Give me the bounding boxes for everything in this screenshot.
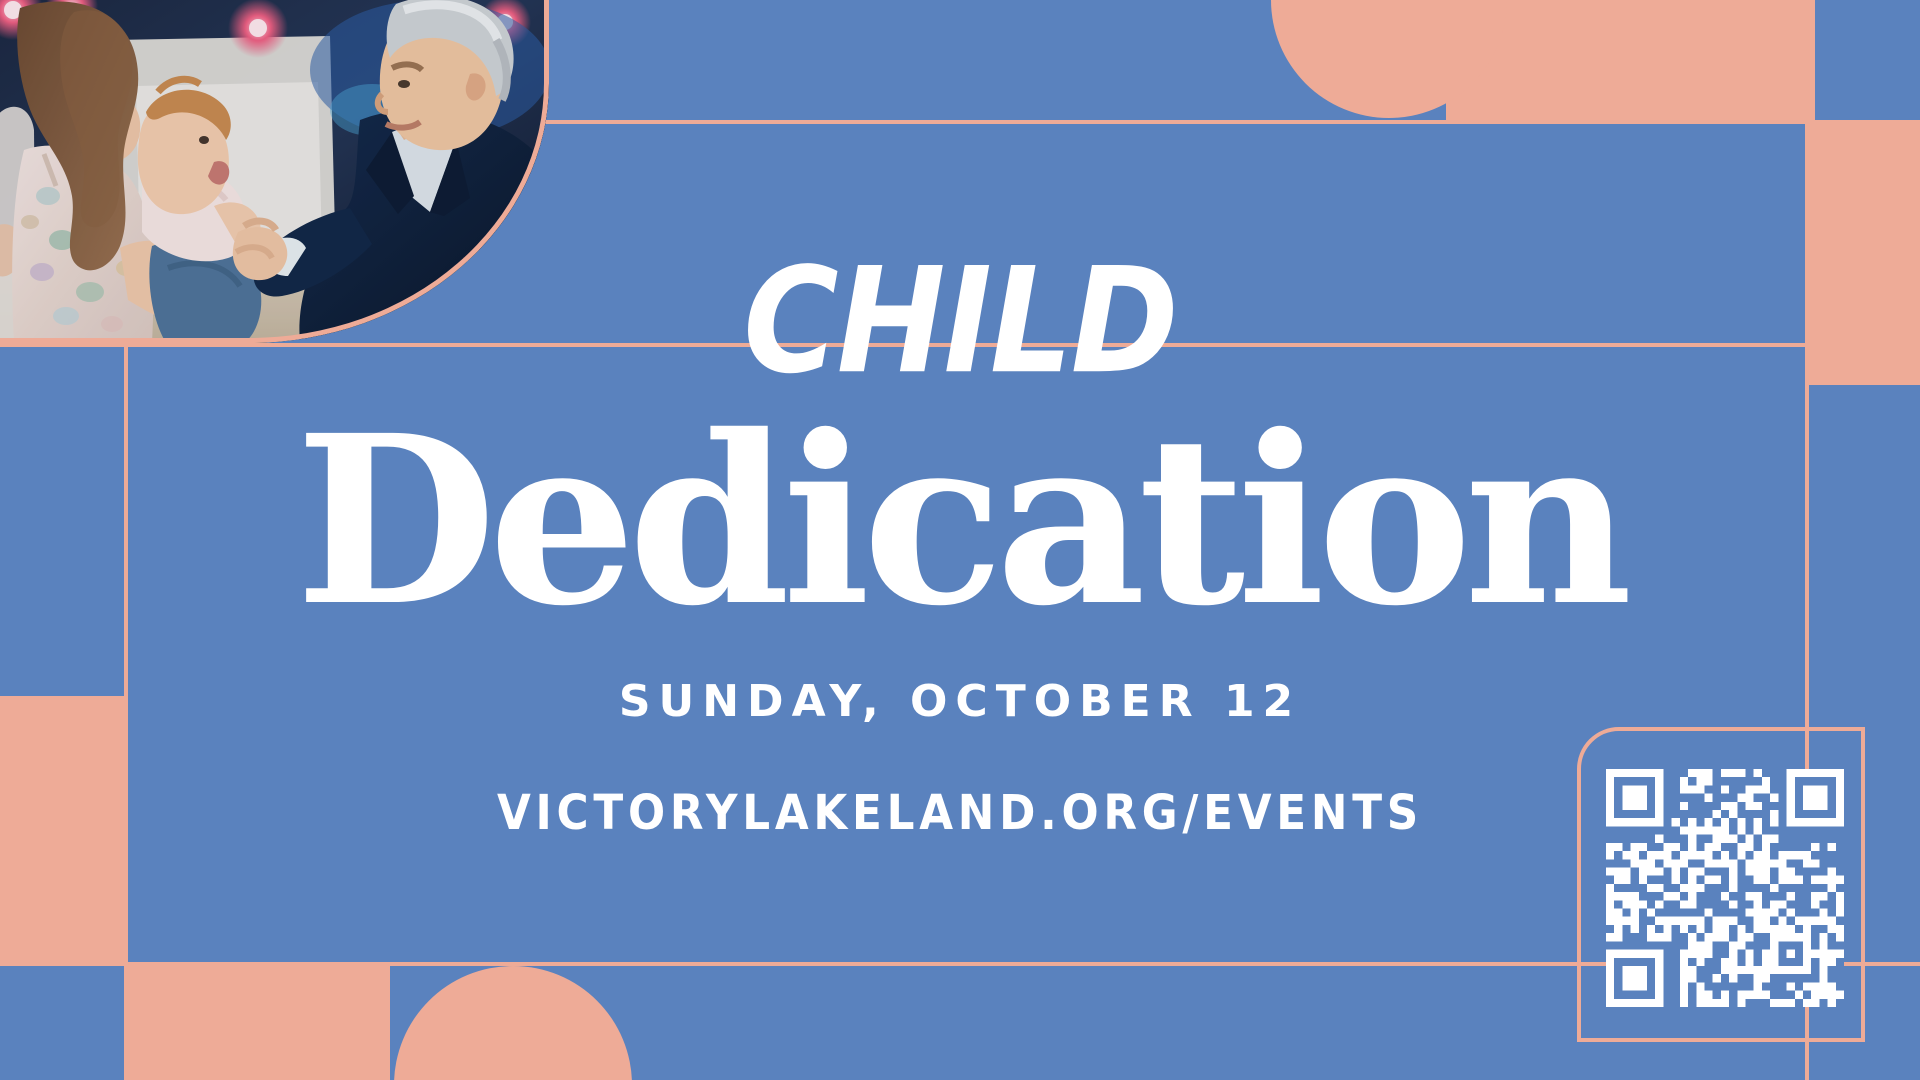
qr-code-svg	[1606, 769, 1844, 1007]
page-title: Dedication	[0, 405, 1920, 637]
qr-code-icon[interactable]	[1606, 769, 1844, 1007]
semicircle-bottom-icon	[394, 966, 632, 1080]
hero-photo	[0, 0, 549, 343]
flyer-canvas: CHILD Dedication SUNDAY, OCTOBER 12 VICT…	[0, 0, 1920, 1080]
accent-block-left	[0, 696, 124, 962]
divider-photo-horizontal	[0, 343, 1920, 347]
accent-block-bottom	[128, 966, 390, 1080]
event-date: SUNDAY, OCTOBER 12	[0, 680, 1920, 724]
qr-panel[interactable]	[1577, 727, 1865, 1042]
